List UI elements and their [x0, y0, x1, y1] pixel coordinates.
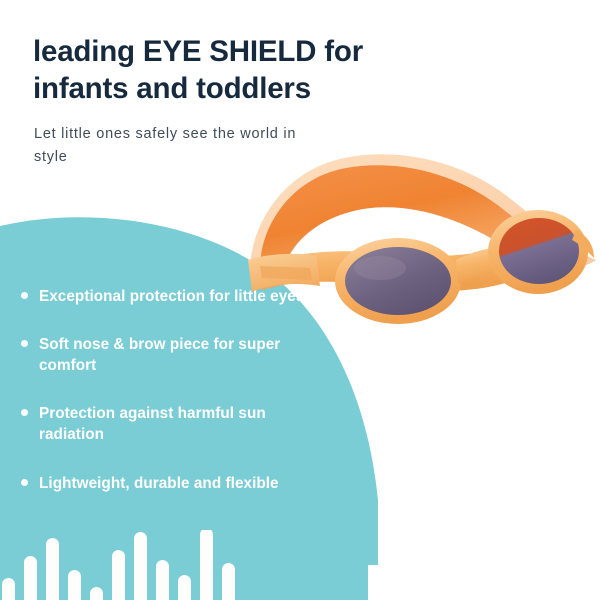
- pattern-bar: [112, 550, 125, 600]
- pattern-bar: [68, 570, 81, 600]
- page-title: leading EYE SHIELD for infants and toddl…: [33, 33, 453, 107]
- list-item-label: Soft nose & brow piece for super comfort: [39, 336, 280, 374]
- bottom-bar-pattern: [0, 530, 395, 600]
- page-subtitle: Let little ones safely see the world in …: [34, 123, 334, 170]
- bullet-dot-icon: [21, 479, 28, 486]
- lens-left-frame: [335, 238, 461, 324]
- strap-band: [260, 165, 584, 280]
- bullet-dot-icon: [21, 292, 28, 299]
- pattern-bar: [222, 563, 235, 600]
- lens-left-glass: [345, 247, 451, 315]
- pattern-bar: [46, 538, 59, 600]
- lens-left: [335, 238, 461, 324]
- pattern-bar: [2, 578, 15, 600]
- list-item: Soft nose & brow piece for super comfort: [18, 334, 308, 376]
- pattern-bar: [178, 575, 191, 600]
- list-item: Protection against harmful sun radiation: [18, 403, 308, 445]
- bullet-dot-icon: [21, 409, 28, 416]
- pattern-bar: [200, 530, 213, 600]
- temple-arm: [572, 230, 594, 258]
- pattern-bar: [134, 532, 147, 600]
- feature-list: Exceptional protection for little eyes S…: [18, 286, 308, 494]
- lens-right-frame: [488, 210, 588, 294]
- pattern-bar: [90, 587, 103, 600]
- strap-outer-edge: [250, 154, 596, 282]
- brow-piece: [252, 236, 540, 291]
- list-item-label: Protection against harmful sun radiation: [39, 405, 266, 443]
- list-item: Exceptional protection for little eyes: [18, 286, 308, 307]
- lens-right-glass: [499, 218, 579, 284]
- pattern-bar: [156, 560, 169, 600]
- lens-left-highlight: [354, 256, 406, 280]
- lens-right: [488, 210, 588, 294]
- list-item: Lightweight, durable and flexible: [18, 473, 308, 494]
- bullet-dot-icon: [21, 340, 28, 347]
- product-banner: leading EYE SHIELD for infants and toddl…: [0, 0, 600, 600]
- list-item-label: Lightweight, durable and flexible: [39, 475, 279, 492]
- pattern-bar: [24, 556, 37, 600]
- buckle-slot: [260, 266, 312, 280]
- nose-bridge: [456, 248, 502, 284]
- list-item-label: Exceptional protection for little eyes: [39, 288, 304, 305]
